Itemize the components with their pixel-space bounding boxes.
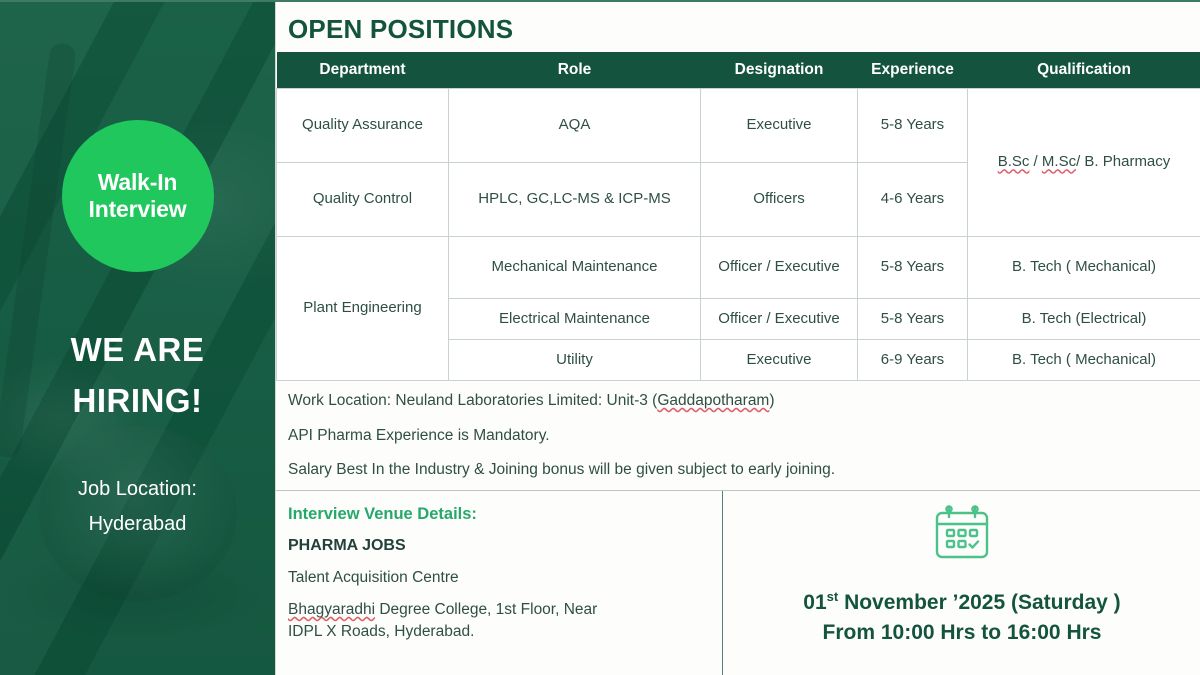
cell-experience: 6-9 Years bbox=[858, 340, 968, 381]
qualification-sep: / bbox=[1029, 153, 1042, 170]
note-work-location: Work Location: Neuland Laboratories Limi… bbox=[288, 392, 1200, 411]
venue-address-rest: Degree College, 1st Floor, Near bbox=[375, 601, 597, 618]
note-salary: Salary Best In the Industry & Joining bo… bbox=[288, 461, 1200, 480]
venue-address-line-2: IDPL X Roads, Hyderabad. bbox=[288, 623, 474, 640]
work-location-suffix: ) bbox=[769, 392, 774, 409]
table-row: Quality Assurance AQA Executive 5-8 Year… bbox=[277, 89, 1200, 163]
qualification-msc: M.Sc bbox=[1042, 153, 1076, 170]
column-header-department: Department bbox=[277, 52, 449, 89]
column-header-qualification: Qualification bbox=[968, 52, 1200, 89]
cell-designation: Executive bbox=[701, 89, 858, 163]
venue-address-place: Bhagyaradhi bbox=[288, 601, 375, 618]
date-rest: November ’2025 (Saturday ) bbox=[838, 591, 1120, 614]
bottom-panel: Interview Venue Details: PHARMA JOBS Tal… bbox=[276, 490, 1200, 675]
cell-experience: 5-8 Years bbox=[858, 299, 968, 340]
badge-line-1: Walk-In bbox=[98, 169, 178, 196]
main-content: OPEN POSITIONS Department Role Designati… bbox=[276, 2, 1200, 675]
headline-line-1: WE ARE bbox=[71, 324, 205, 375]
interview-schedule-section: 01st November ’2025 (Saturday ) From 10:… bbox=[723, 491, 1200, 675]
cell-designation: Officer / Executive bbox=[701, 237, 858, 299]
calendar-check-icon bbox=[931, 505, 993, 568]
cell-experience: 5-8 Years bbox=[858, 89, 968, 163]
open-positions-table: Department Role Designation Experience Q… bbox=[276, 52, 1200, 381]
date-ordinal: st bbox=[827, 589, 839, 604]
sidebar-content: Walk-In Interview WE ARE HIRING! Job Loc… bbox=[0, 2, 275, 675]
cell-role: Utility bbox=[449, 340, 701, 381]
walkin-interview-poster: Walk-In Interview WE ARE HIRING! Job Loc… bbox=[0, 0, 1200, 675]
cell-qualification: B. Tech ( Mechanical) bbox=[968, 340, 1200, 381]
cell-role: HPLC, GC,LC-MS & ICP-MS bbox=[449, 163, 701, 237]
interview-date: 01st November ’2025 (Saturday ) bbox=[803, 588, 1120, 618]
cell-designation: Officers bbox=[701, 163, 858, 237]
qualification-bsc: B.Sc bbox=[998, 153, 1030, 170]
venue-heading: Interview Venue Details: bbox=[288, 505, 722, 524]
headline-line-2: HIRING! bbox=[71, 375, 205, 426]
cell-designation: Officer / Executive bbox=[701, 299, 858, 340]
venue-organization: PHARMA JOBS bbox=[288, 537, 722, 555]
cell-department: Quality Assurance bbox=[277, 89, 449, 163]
cell-experience: 5-8 Years bbox=[858, 237, 968, 299]
job-location-label: Job Location: bbox=[78, 472, 197, 507]
walk-in-interview-badge: Walk-In Interview bbox=[62, 120, 214, 272]
cell-experience: 4-6 Years bbox=[858, 163, 968, 237]
cell-qualification: B. Tech (Electrical) bbox=[968, 299, 1200, 340]
table-row: Plant Engineering Mechanical Maintenance… bbox=[277, 237, 1200, 299]
note-api-experience: API Pharma Experience is Mandatory. bbox=[288, 427, 1200, 446]
cell-qualification: B.Sc / M.Sc/ B. Pharmacy bbox=[968, 89, 1200, 237]
cell-role: Electrical Maintenance bbox=[449, 299, 701, 340]
interview-venue-section: Interview Venue Details: PHARMA JOBS Tal… bbox=[276, 491, 723, 675]
column-header-designation: Designation bbox=[701, 52, 858, 89]
cell-role: Mechanical Maintenance bbox=[449, 237, 701, 299]
cell-designation: Executive bbox=[701, 340, 858, 381]
left-sidebar-panel: Walk-In Interview WE ARE HIRING! Job Loc… bbox=[0, 2, 276, 675]
date-day: 01 bbox=[803, 591, 826, 614]
venue-address: Bhagyaradhi Degree College, 1st Floor, N… bbox=[288, 599, 722, 643]
work-location-place: Gaddapotharam bbox=[657, 392, 769, 409]
cell-qualification: B. Tech ( Mechanical) bbox=[968, 237, 1200, 299]
cell-role: AQA bbox=[449, 89, 701, 163]
badge-line-2: Interview bbox=[89, 196, 187, 223]
work-location-prefix: Work Location: Neuland Laboratories Limi… bbox=[288, 392, 657, 409]
job-location-value: Hyderabad bbox=[78, 507, 197, 542]
page-title: OPEN POSITIONS bbox=[276, 2, 1200, 52]
column-header-role: Role bbox=[449, 52, 701, 89]
notes-block: Work Location: Neuland Laboratories Limi… bbox=[276, 381, 1200, 480]
cell-department: Quality Control bbox=[277, 163, 449, 237]
we-are-hiring-headline: WE ARE HIRING! bbox=[71, 324, 205, 426]
venue-centre: Talent Acquisition Centre bbox=[288, 567, 722, 589]
job-location-block: Job Location: Hyderabad bbox=[78, 472, 197, 542]
qualification-tail: / B. Pharmacy bbox=[1076, 153, 1170, 170]
column-header-experience: Experience bbox=[858, 52, 968, 89]
interview-time: From 10:00 Hrs to 16:00 Hrs bbox=[823, 618, 1102, 648]
table-header-row: Department Role Designation Experience Q… bbox=[277, 52, 1200, 89]
cell-department: Plant Engineering bbox=[277, 237, 449, 381]
